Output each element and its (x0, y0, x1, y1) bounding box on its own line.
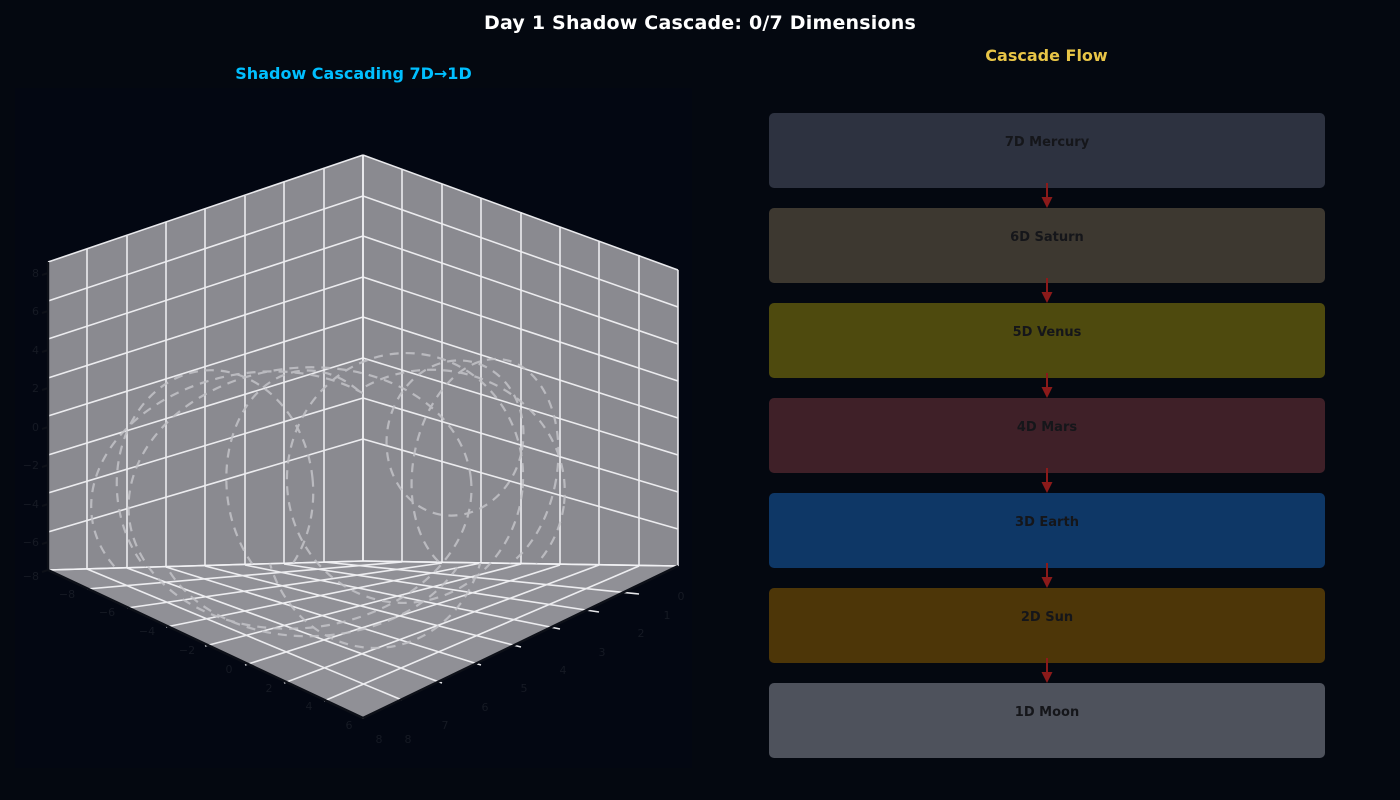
svg-text:3: 3 (599, 646, 606, 659)
cascade-box[interactable]: 1D Moon (769, 683, 1325, 758)
cascade-step-7: 1D Moon (769, 683, 1325, 758)
cascade-down-arrow-icon (1038, 563, 1056, 589)
svg-text:4: 4 (560, 664, 567, 677)
z-axis-tick-labels: 8 6 4 2 0 −2 −4 −6 −8 (23, 267, 39, 583)
cascade-step-6: 2D Sun (769, 588, 1325, 663)
cascade-box-label: 7D Mercury (769, 135, 1325, 150)
cascade-down-arrow-icon (1038, 468, 1056, 494)
cascade-step-5: 3D Earth (769, 493, 1325, 568)
cascade-step-4: 4D Mars (769, 398, 1325, 473)
svg-text:2: 2 (266, 682, 273, 695)
svg-text:−6: −6 (23, 536, 39, 549)
page-title: Day 1 Shadow Cascade: 0/7 Dimensions (0, 12, 1400, 34)
cascade-flow-heading: Cascade Flow (740, 46, 1353, 65)
cascade-box[interactable]: 6D Saturn (769, 208, 1325, 283)
cascade-down-arrow-icon (1038, 658, 1056, 684)
svg-text:8: 8 (32, 267, 39, 280)
svg-text:−8: −8 (59, 588, 75, 601)
svg-text:2: 2 (638, 627, 645, 640)
svg-text:−8: −8 (23, 570, 39, 583)
svg-text:8: 8 (376, 733, 383, 746)
svg-text:5: 5 (521, 682, 528, 695)
svg-text:4: 4 (32, 344, 39, 357)
left-chart-subtitle: Shadow Cascading 7D→1D (15, 64, 692, 83)
cascade-box-label: 6D Saturn (769, 230, 1325, 245)
svg-text:−4: −4 (23, 498, 39, 511)
shadow-cascade-3d-plot[interactable]: 8 6 4 2 0 −2 −4 −6 −8 −8 −6 −4 −2 0 2 4 … (15, 88, 692, 768)
svg-text:−2: −2 (23, 459, 39, 472)
cascade-down-arrow-icon (1038, 278, 1056, 304)
cascade-down-arrow-icon (1038, 373, 1056, 399)
cascade-box-label: 2D Sun (769, 610, 1325, 625)
svg-text:4: 4 (306, 700, 313, 713)
svg-text:1: 1 (664, 609, 671, 622)
svg-text:8: 8 (405, 733, 412, 746)
svg-text:−2: −2 (179, 644, 195, 657)
cascade-step-2: 6D Saturn (769, 208, 1325, 283)
cascade-box[interactable]: 4D Mars (769, 398, 1325, 473)
cascade-box-label: 5D Venus (769, 325, 1325, 340)
cascade-box-label: 1D Moon (769, 705, 1325, 720)
svg-text:0: 0 (226, 663, 233, 676)
svg-text:6: 6 (32, 305, 39, 318)
shadow-cascade-3d-canvas: 8 6 4 2 0 −2 −4 −6 −8 −8 −6 −4 −2 0 2 4 … (15, 88, 692, 768)
cascade-box[interactable]: 2D Sun (769, 588, 1325, 663)
cascade-flow-list: 7D Mercury6D Saturn5D Venus4D Mars3D Ear… (769, 113, 1325, 760)
svg-text:6: 6 (346, 719, 353, 732)
cascade-down-arrow-icon (1038, 183, 1056, 209)
svg-text:0: 0 (678, 590, 685, 603)
cascade-box[interactable]: 3D Earth (769, 493, 1325, 568)
cascade-box-label: 4D Mars (769, 420, 1325, 435)
cascade-box-label: 3D Earth (769, 515, 1325, 530)
svg-text:0: 0 (32, 421, 39, 434)
cascade-box[interactable]: 7D Mercury (769, 113, 1325, 188)
cascade-step-1: 7D Mercury (769, 113, 1325, 188)
svg-text:−4: −4 (139, 625, 155, 638)
svg-text:6: 6 (482, 701, 489, 714)
svg-text:7: 7 (442, 719, 449, 732)
cascade-step-3: 5D Venus (769, 303, 1325, 378)
cascade-box[interactable]: 5D Venus (769, 303, 1325, 378)
svg-text:2: 2 (32, 382, 39, 395)
svg-text:−6: −6 (99, 606, 115, 619)
